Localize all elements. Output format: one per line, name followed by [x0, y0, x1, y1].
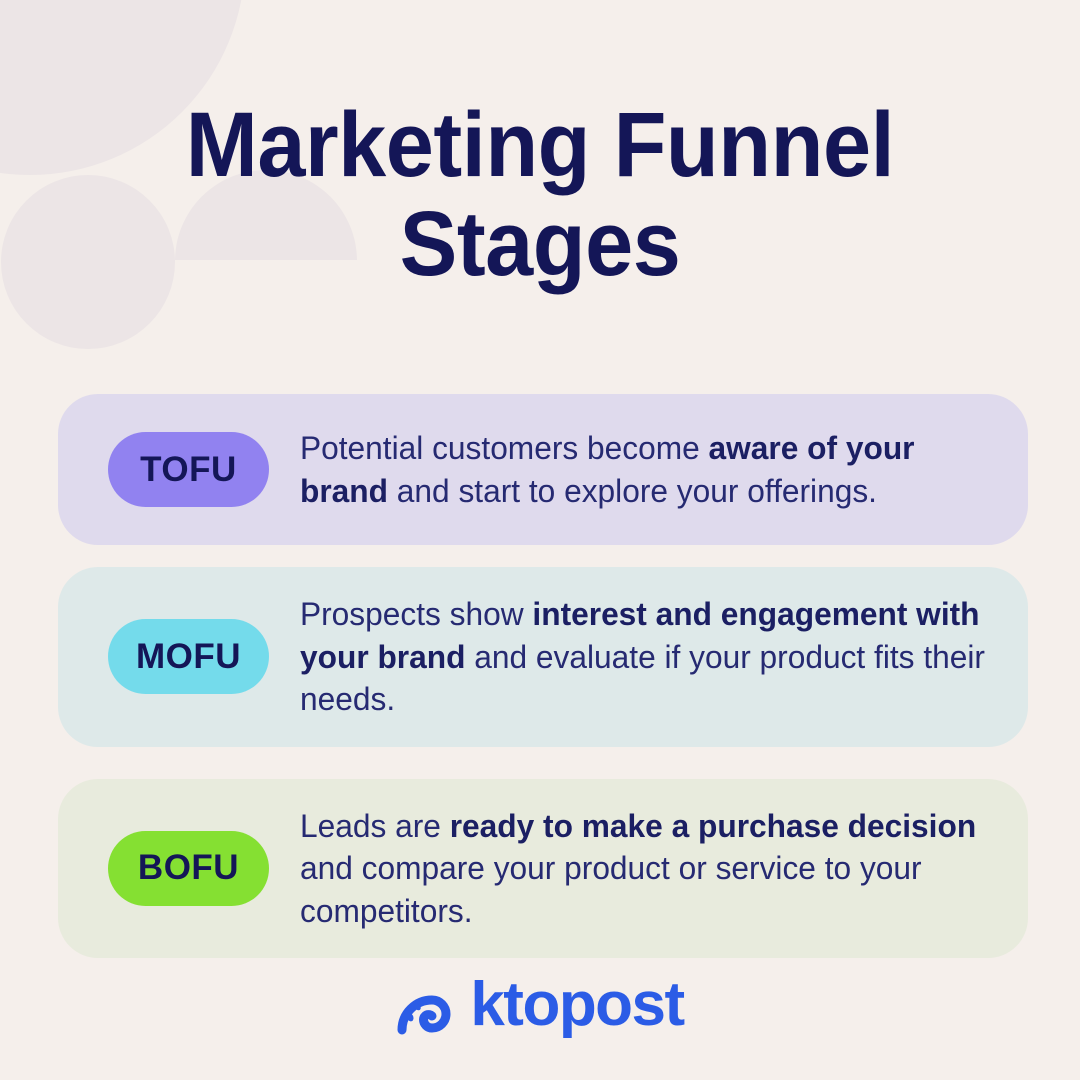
stage-card-mofu[interactable]: MOFU Prospects show interest and engagem… [58, 567, 1028, 747]
stage-text-lead-mofu: Prospects show [300, 596, 532, 632]
stage-card-tofu[interactable]: TOFU Potential customers become aware of… [58, 394, 1028, 545]
stage-text-tail-bofu: and compare your product or service to y… [300, 850, 922, 929]
title-block: Marketing Funnel Stages [0, 96, 1080, 295]
stage-text-lead-bofu: Leads are [300, 808, 450, 844]
stage-text-bold-bofu: ready to make a purchase decision [450, 808, 976, 844]
stage-badge-tofu: TOFU [108, 432, 269, 507]
brand-logo[interactable]: ktopost [0, 974, 1080, 1036]
stage-badge-bofu: BOFU [108, 831, 269, 906]
stage-badge-mofu: MOFU [108, 619, 269, 694]
logo-wordmark: ktopost [470, 974, 683, 1036]
funnel-stage-list: TOFU Potential customers become aware of… [58, 394, 1028, 958]
stage-text-lead-tofu: Potential customers become [300, 430, 709, 466]
stage-card-bofu[interactable]: BOFU Leads are ready to make a purchase … [58, 779, 1028, 959]
stage-description-tofu: Potential customers become aware of your… [300, 427, 987, 512]
stage-description-mofu: Prospects show interest and engagement w… [300, 593, 987, 721]
page-title: Marketing Funnel Stages [32, 96, 1047, 295]
stage-description-bofu: Leads are ready to make a purchase decis… [300, 805, 987, 933]
oktopost-spiral-icon [396, 974, 468, 1036]
stage-text-tail-tofu: and start to explore your offerings. [388, 473, 877, 509]
